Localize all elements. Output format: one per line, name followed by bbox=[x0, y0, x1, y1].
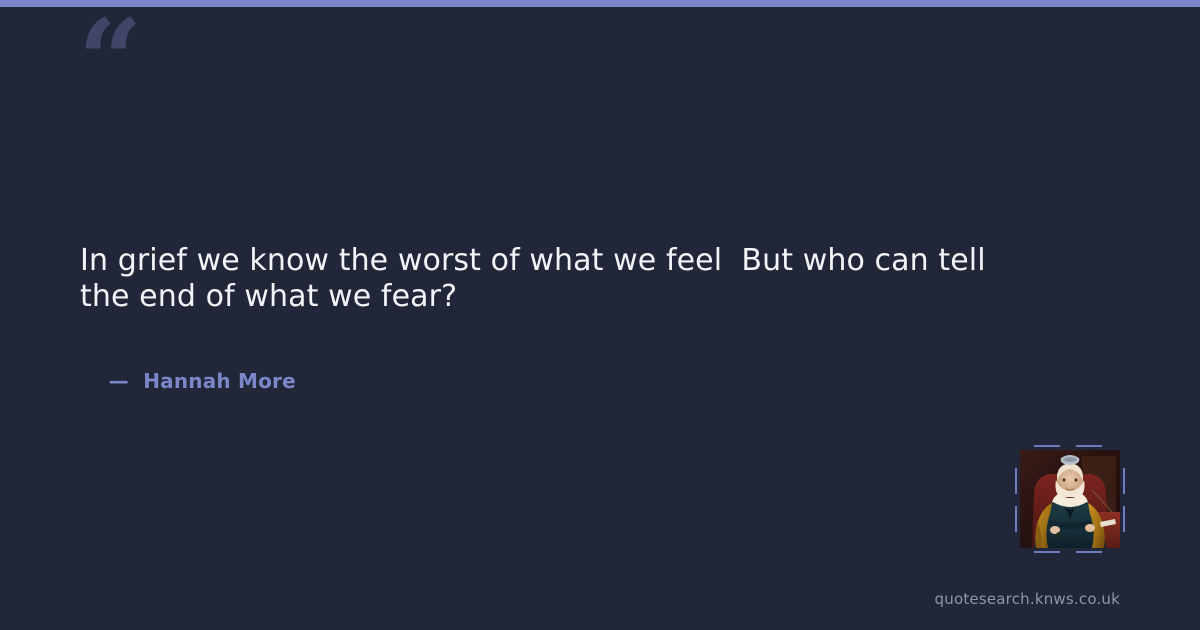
top-accent-bar bbox=[0, 0, 1200, 7]
frame-tick-left-top bbox=[1015, 468, 1017, 494]
attribution-author: Hannah More bbox=[143, 369, 296, 393]
quote-attribution: — Hannah More bbox=[80, 339, 296, 423]
source-url: quotesearch.knws.co.uk bbox=[935, 589, 1120, 609]
quote-block: In grief we know the worst of what we fe… bbox=[80, 243, 1010, 315]
attribution-dash: — bbox=[109, 369, 129, 393]
frame-tick-top-left bbox=[1034, 445, 1060, 447]
opening-quote-mark-icon: “ bbox=[78, 6, 140, 118]
frame-tick-left-bottom bbox=[1015, 506, 1017, 532]
author-portrait bbox=[1020, 450, 1120, 548]
author-portrait-image bbox=[1020, 450, 1120, 548]
attribution-spacer bbox=[129, 369, 143, 393]
frame-tick-right-top bbox=[1123, 468, 1125, 494]
quote-text: In grief we know the worst of what we fe… bbox=[80, 243, 1010, 315]
frame-tick-top-right bbox=[1076, 445, 1102, 447]
frame-tick-right-bottom bbox=[1123, 506, 1125, 532]
frame-tick-bottom-right bbox=[1076, 551, 1102, 553]
author-portrait-artwork bbox=[1020, 450, 1120, 548]
quote-card: “ In grief we know the worst of what we … bbox=[0, 0, 1200, 630]
frame-tick-bottom-left bbox=[1034, 551, 1060, 553]
